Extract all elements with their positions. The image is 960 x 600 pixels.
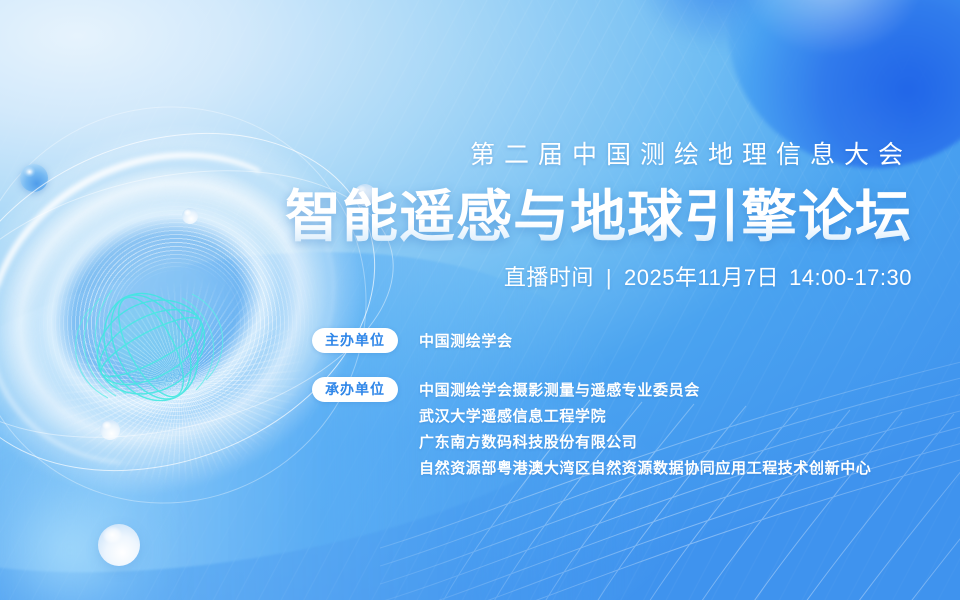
list-item: 武汉大学遥感信息工程学院 — [419, 404, 871, 430]
forum-main-title: 智能遥感与地球引擎论坛 — [285, 182, 912, 252]
conference-eyebrow-title: 第二届中国测绘地理信息大会 — [461, 138, 912, 172]
livestream-time: 14:00-17:30 — [779, 262, 912, 294]
banner-content: 第二届中国测绘地理信息大会 智能遥感与地球引擎论坛 直播时间|2025年11月7… — [0, 0, 960, 600]
list-item: 广东南方数码科技股份有限公司 — [419, 430, 871, 456]
list-item: 中国测绘学会 — [419, 329, 513, 355]
livestream-date: 2025年11月7日 — [624, 265, 779, 290]
livestream-label: 直播时间 — [504, 265, 594, 290]
badge-host-unit: 主办单位 — [312, 328, 398, 353]
coorganizer-organization-list: 中国测绘学会摄影测量与遥感专业委员会 武汉大学遥感信息工程学院 广东南方数码科技… — [419, 377, 871, 482]
list-item: 自然资源部粤港澳大湾区自然资源数据协同应用工程技术创新中心 — [419, 456, 871, 482]
organizer-section: 主办单位 中国测绘学会 承办单位 中国测绘学会摄影测量与遥感专业委员会 武汉大学… — [312, 328, 912, 482]
organizer-row-host: 主办单位 中国测绘学会 — [312, 328, 912, 355]
list-item: 中国测绘学会摄影测量与遥感专业委员会 — [419, 378, 871, 404]
badge-coorganizer-unit: 承办单位 — [312, 377, 398, 402]
host-organization-list: 中国测绘学会 — [419, 328, 513, 355]
organizer-row-coorganizer: 承办单位 中国测绘学会摄影测量与遥感专业委员会 武汉大学遥感信息工程学院 广东南… — [312, 377, 912, 482]
datetime-separator: | — [594, 262, 624, 294]
banner-canvas: 第二届中国测绘地理信息大会 智能遥感与地球引擎论坛 直播时间|2025年11月7… — [0, 0, 960, 600]
livestream-datetime: 直播时间|2025年11月7日14:00-17:30 — [504, 262, 912, 294]
